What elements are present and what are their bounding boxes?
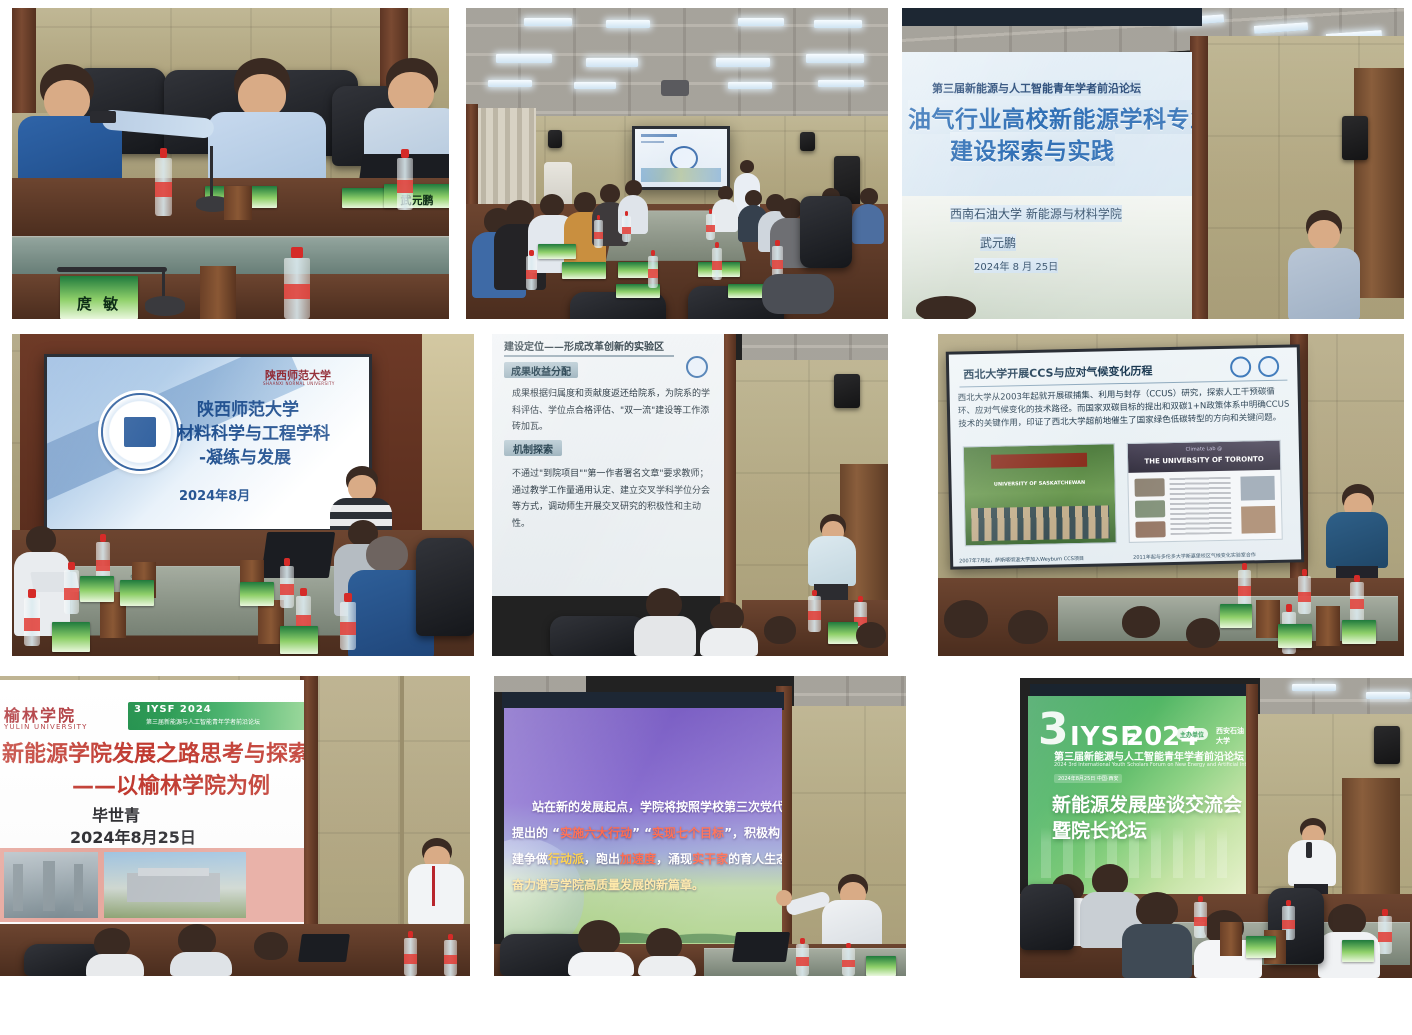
audience-member — [568, 920, 634, 976]
section-chip-2: 机制探索 — [504, 440, 562, 456]
water-bottle — [404, 938, 417, 976]
water-bottle — [1378, 916, 1392, 954]
audience-member — [638, 928, 696, 976]
audience-member — [86, 928, 144, 976]
ceiling-light — [1366, 692, 1410, 699]
slide-logo-badge — [686, 356, 708, 378]
headline-line1: 新能源发展座谈交流会 — [1052, 790, 1242, 817]
photo-r2c1[interactable]: 陕西师范大学 SHAANXI NORMAL UNIVERSITY 陕西师范大学 … — [12, 334, 474, 656]
water-bottle — [796, 944, 809, 976]
projection-screen: 榆林学院 YULIN UNIVERSITY 3 IYSF 2024 第三届新能源… — [0, 680, 304, 932]
name-card[interactable] — [280, 626, 318, 654]
name-card[interactable] — [52, 622, 90, 652]
wall-speaker — [800, 132, 815, 151]
projection-screen-frame: 陕西师范大学 SHAANXI NORMAL UNIVERSITY 陕西师范大学 … — [44, 354, 372, 532]
forum-title-cn: 第三届新能源与人工智能青年学者前沿论坛 — [1054, 748, 1244, 763]
profile-row — [1135, 500, 1166, 518]
projection-screen: 陕西师范大学 SHAANXI NORMAL UNIVERSITY 陕西师范大学 … — [47, 357, 369, 529]
head — [1122, 606, 1160, 638]
head — [366, 536, 408, 572]
university-logo-sub: SHAANXI NORMAL UNIVERSITY — [263, 381, 335, 386]
audience-member — [700, 602, 758, 656]
slide-line-4: 奋力谱写学院高质量发展的新篇章。 — [512, 876, 704, 893]
photo-content: 第三届新能源与人工智能青年学者前沿论坛 油气行业高校新能源学科专业 建设探索与实… — [902, 8, 1404, 319]
audience-member — [852, 622, 888, 656]
microphone-head — [57, 267, 167, 272]
pen-holder — [200, 266, 236, 319]
head — [1008, 610, 1048, 644]
name-card[interactable] — [1278, 624, 1312, 648]
nameplate-label: 武元鹏 — [384, 192, 449, 208]
name-card[interactable] — [80, 576, 114, 602]
projection-screen: 西北大学开展CCS与应对气候变化历程 西北大学从2003年起就开展碳捕集、利用与… — [949, 347, 1301, 566]
sign-banner — [991, 453, 1087, 469]
host-university: 西安石油大学 — [1216, 726, 1246, 746]
water-bottle — [648, 256, 658, 288]
head — [625, 180, 642, 196]
presenter-remote — [90, 111, 116, 123]
head — [1186, 618, 1220, 648]
pen-holder — [224, 186, 252, 220]
torso — [1288, 248, 1360, 319]
photo-content: 陕西师范大学 SHAANXI NORMAL UNIVERSITY 陕西师范大学 … — [12, 334, 474, 656]
profile-row — [1135, 522, 1166, 538]
head — [254, 932, 288, 960]
ceiling-light — [716, 58, 770, 67]
microphone-base — [145, 296, 185, 316]
lanyard — [432, 866, 435, 906]
torso — [638, 956, 696, 976]
name-card[interactable] — [240, 582, 274, 606]
head — [740, 160, 754, 173]
host-badge-label: 主办单位 — [1176, 728, 1208, 740]
head — [578, 920, 620, 956]
torso — [1122, 924, 1192, 978]
slide-affiliation: 西南石油大学 新能源与材料学院 — [950, 205, 1122, 222]
photo-r2c2[interactable]: 建设定位——形成改革创新的实验区 成果收益分配 成果根据归属度和贡献度返还给院系… — [492, 334, 888, 656]
water-bottle — [64, 570, 79, 614]
caption-right: 2011年起与多伦多大学斯嘉堡校区气候变化实验室合作 — [1133, 551, 1256, 561]
slide-body: 西北大学从2003年起就开展碳捕集、利用与封存（CCUS）研究，探索人工干预碳循… — [958, 386, 1291, 431]
slide-date: 2024年8月 — [179, 485, 250, 504]
name-card[interactable] — [866, 956, 896, 976]
photo-r3c1[interactable]: 榆林学院 YULIN UNIVERSITY 3 IYSF 2024 第三届新能源… — [0, 676, 470, 976]
water-bottle — [1350, 582, 1364, 622]
ribbon-badge: 3 IYSF 2024 — [134, 704, 212, 715]
attendee — [852, 188, 884, 244]
name-card[interactable] — [538, 244, 576, 259]
door — [1342, 778, 1400, 900]
projector — [661, 80, 689, 96]
line3-part-a: 建争做 — [512, 852, 548, 866]
water-bottle — [1238, 570, 1251, 608]
torso — [852, 204, 884, 244]
projection-screen-frame: 西北大学开展CCS与应对气候变化历程 西北大学从2003年起就开展碳捕集、利用与… — [946, 344, 1304, 569]
head — [860, 188, 878, 205]
group-photo-people — [971, 505, 1110, 541]
pen-holder — [1220, 922, 1242, 956]
slide-kicker: 第三届新能源与人工智能青年学者前沿论坛 — [932, 80, 1141, 96]
section-chip-2-label: 机制探索 — [504, 440, 562, 456]
section-chip-1-label: 成果收益分配 — [504, 362, 578, 378]
backpack — [762, 274, 834, 314]
water-bottle — [284, 258, 310, 319]
torso — [170, 952, 232, 976]
projection-screen: 第三届新能源与人工智能青年学者前沿论坛 油气行业高校新能源学科专业 建设探索与实… — [902, 52, 1192, 319]
screen-wood-frame — [1190, 36, 1208, 319]
headline-line2: 暨院长论坛 — [1052, 816, 1147, 843]
water-bottle — [340, 602, 356, 650]
chair — [1020, 884, 1074, 950]
slide-paragraph-2: 不通过"到院项目""第一作者署名文章"要求教师；通过教学工作量通用认定、建立交叉… — [512, 466, 712, 533]
photo-toronto: Climate Lab @ THE UNIVERSITY OF TORONTO — [1127, 440, 1283, 543]
campus-photo-gate — [4, 852, 98, 918]
line3-part-d: 的育人生态圈， — [728, 852, 782, 866]
nameplate-front[interactable]: 庹 敏 — [60, 276, 138, 319]
date-place: 2024年8月25日 中国·西安 — [1054, 774, 1122, 783]
water-bottle — [712, 248, 722, 280]
torso — [634, 616, 696, 656]
head — [26, 526, 56, 554]
chair — [416, 538, 474, 636]
slide-presenter: 毕世青 — [92, 802, 140, 826]
slide-date: 2024年 8 月 25日 — [974, 258, 1058, 273]
slide-title-line3: -凝练与发展 — [199, 443, 291, 468]
sign-text: UNIVERSITY OF SASKATCHEWAN — [985, 480, 1093, 489]
photo-saskatchewan: UNIVERSITY OF SASKATCHEWAN — [963, 443, 1117, 546]
torso — [86, 954, 144, 976]
audience-member — [248, 932, 304, 976]
water-bottle — [842, 948, 855, 976]
photo-content: 建设定位——形成改革创新的实验区 成果收益分配 成果根据归属度和贡献度返还给院系… — [492, 334, 888, 656]
audience-member — [756, 616, 808, 656]
photo-content: 3 IYSF 2024 主办单位 西安石油大学 第三届新能源与人工智能青年学者前… — [1020, 678, 1412, 978]
nameplate-label: 庹 敏 — [60, 293, 138, 314]
torso — [712, 199, 738, 232]
torso — [700, 628, 758, 656]
laptop — [298, 934, 350, 962]
line3-part-c: ，涌现 — [656, 852, 692, 866]
torso — [822, 900, 882, 950]
head — [916, 296, 976, 319]
laptop — [261, 532, 335, 578]
slide-title: 西北大学开展CCS与应对气候变化历程 — [963, 362, 1153, 382]
ceiling-light — [728, 82, 772, 89]
slide-title-line1: 陕西师范大学 — [197, 395, 299, 420]
torso-blue-polo — [1326, 512, 1388, 568]
attendee — [712, 186, 738, 232]
host-badge: 主办单位 — [1176, 728, 1208, 740]
ceiling-light — [524, 18, 572, 26]
line2-part-a: 提出的 “ — [512, 826, 560, 840]
line3-highlight-3: 实干家 — [692, 852, 728, 866]
slide-logo-badge-1 — [1230, 356, 1251, 377]
ribbon-cn: 第三届新能源与人工智能青年学者前沿论坛 — [146, 717, 260, 726]
name-card[interactable] — [562, 262, 606, 279]
projection-screen: 站在新的发展起点，学院将按照学校第三次党代会 提出的 “实施六大行动” “实现七… — [504, 708, 782, 958]
photo-r3c3[interactable]: 3 IYSF 2024 主办单位 西安石油大学 第三届新能源与人工智能青年学者前… — [1020, 678, 1412, 978]
water-bottle — [706, 214, 715, 240]
photo-r3c2[interactable]: 站在新的发展起点，学院将按照学校第三次党代会 提出的 “实施六大行动” “实现七… — [494, 676, 906, 976]
line2-highlight-2: 实现七个目标 — [652, 826, 724, 840]
slide-title-line1: 油气行业高校新能源学科专业 — [908, 100, 1192, 134]
torso — [808, 536, 856, 586]
torso — [408, 864, 464, 926]
ceiling-light — [814, 20, 862, 28]
head — [600, 184, 620, 203]
side-photo — [1241, 476, 1275, 500]
side-photo — [1242, 506, 1276, 534]
laptop — [732, 932, 790, 962]
photo-r2c3[interactable]: 西北大学开展CCS与应对气候变化历程 西北大学从2003年起就开展碳捕集、利用与… — [938, 334, 1404, 656]
photo-content: 榆林学院 YULIN UNIVERSITY 3 IYSF 2024 第三届新能源… — [0, 676, 470, 976]
slide-line-3: 建争做行动派，跑出加速度，涌现实干家的育人生态圈， — [512, 850, 782, 867]
line3-highlight-2: 加速度 — [620, 852, 656, 866]
slide-header: 建设定位——形成改革创新的实验区 — [504, 338, 664, 353]
water-bottle — [155, 158, 172, 216]
slide-line-2: 提出的 “实施六大行动” “实现七个目标”，积极构 — [512, 824, 780, 841]
audience-member — [938, 600, 1008, 656]
yulin-logo-en: YULIN UNIVERSITY — [4, 723, 88, 731]
photo-content: 站在新的发展起点，学院将按照学校第三次党代会 提出的 “实施六大行动” “实现七… — [494, 676, 906, 976]
ceiling-light — [738, 18, 784, 26]
slide-presenter: 武元鹏 — [980, 234, 1016, 251]
head — [780, 198, 802, 219]
photo-content: 夏龙 武元鹏 庹 敏 — [12, 8, 449, 319]
slide-date: 2024年8月25日 — [70, 824, 196, 848]
caption-left: 2007年7月起，萨斯喀彻温大学加入Weyburn CCS项目 — [959, 555, 1084, 565]
photo-r1c3[interactable]: 第三届新能源与人工智能青年学者前沿论坛 油气行业高校新能源学科专业 建设探索与实… — [902, 8, 1404, 319]
name-card[interactable] — [1342, 620, 1376, 644]
section-chip-1: 成果收益分配 — [504, 362, 578, 378]
head — [540, 194, 564, 216]
hand — [776, 890, 792, 906]
slide-title-line2: 建设探索与实践 — [950, 132, 1115, 166]
line2-part-c: ”，积极构 — [724, 826, 780, 840]
name-card[interactable] — [1246, 936, 1276, 958]
audience-member — [170, 924, 232, 976]
photo-r1c1[interactable]: 夏龙 武元鹏 庹 敏 — [12, 8, 449, 319]
wall-speaker — [548, 130, 562, 148]
drop-ceiling — [494, 676, 586, 692]
nameplate[interactable]: 武元鹏 — [384, 184, 449, 208]
water-bottle — [444, 940, 457, 976]
torso — [1288, 840, 1336, 886]
photo-content: 西北大学开展CCS与应对气候变化历程 西北大学从2003年起就开展碳捕集、利用与… — [938, 334, 1404, 656]
head — [856, 622, 886, 648]
door — [1354, 68, 1404, 298]
water-bottle — [280, 566, 294, 608]
head — [764, 616, 796, 644]
audience-member — [1182, 618, 1236, 656]
ceiling-light — [586, 58, 638, 67]
forum-title-en: 2024 3rd International Youth Scholars Fo… — [1054, 762, 1246, 768]
audience-member — [1000, 610, 1066, 656]
audience-member — [634, 588, 696, 656]
forum-ribbon: 3 IYSF 2024 第三届新能源与人工智能青年学者前沿论坛 — [128, 702, 304, 730]
ceiling-light — [1292, 684, 1336, 691]
name-card[interactable] — [120, 580, 154, 606]
ceiling-light — [574, 82, 616, 89]
chair — [550, 616, 646, 656]
line2-highlight-1: 实施六大行动 — [560, 826, 632, 840]
line3-part-b: ，跑出 — [584, 852, 620, 866]
ceiling-light — [818, 80, 864, 87]
slide-title-line2: ——以榆林学院为例 — [72, 768, 270, 800]
wall-speaker — [834, 374, 860, 408]
head — [1136, 892, 1178, 928]
head — [718, 186, 733, 200]
wall-seam — [400, 676, 404, 924]
profile-row — [1135, 478, 1166, 496]
projection-screen: 建设定位——形成改革创新的实验区 成果收益分配 成果根据归属度和贡献度返还给院系… — [492, 334, 724, 596]
photo-r1c2[interactable] — [466, 8, 888, 319]
water-bottle — [808, 596, 821, 632]
audience-member — [1122, 892, 1192, 978]
water-bottle — [24, 598, 40, 646]
campus-photo-building — [104, 852, 246, 918]
ceiling-light — [606, 20, 650, 28]
line2-part-b: ” “ — [632, 826, 652, 840]
chair — [800, 196, 852, 268]
wall-speaker — [1342, 116, 1368, 160]
ceiling-light — [496, 54, 552, 63]
photo-content — [466, 8, 888, 319]
slide-title-line1: 新能源学院发展之路思考与探索 — [2, 736, 304, 768]
profile-text-lines — [1169, 477, 1231, 535]
ceiling-light — [488, 80, 532, 87]
water-bottle — [526, 256, 537, 290]
name-card[interactable] — [1342, 940, 1374, 962]
photo-collage: 夏龙 武元鹏 庹 敏 — [0, 0, 1412, 1035]
ceiling-light — [806, 54, 864, 63]
water-bottle — [622, 216, 631, 242]
slide-title-line2: 材料科学与工程学科 — [177, 419, 330, 444]
slide-logo-badge-2 — [1258, 356, 1279, 377]
water-bottle — [397, 158, 413, 210]
edition-numeral: 3 — [1038, 712, 1069, 748]
water-bottle — [1298, 576, 1311, 614]
university-seal — [101, 393, 179, 471]
pen-holder — [1256, 600, 1280, 638]
water-bottle — [594, 220, 603, 248]
audience-member — [1116, 606, 1176, 656]
line3-highlight-1: 行动派 — [548, 852, 584, 866]
face — [1308, 220, 1340, 250]
slide-line-1: 站在新的发展起点，学院将按照学校第三次党代会 — [532, 798, 782, 815]
projection-screen — [635, 129, 727, 187]
torso — [568, 952, 634, 976]
handheld-microphone — [1306, 842, 1312, 858]
water-bottle — [1194, 902, 1207, 938]
person-standing-presenter — [1288, 210, 1360, 319]
head — [944, 600, 988, 638]
audience-head — [916, 296, 976, 319]
pen-holder — [1316, 606, 1340, 646]
slide-paragraph-1: 成果根据归属度和贡献度返还给院系，为院系的学科评估、学位点合格评估、"双一流"建… — [512, 386, 710, 436]
microphone-stem — [210, 146, 213, 202]
wall-speaker — [1374, 726, 1400, 764]
